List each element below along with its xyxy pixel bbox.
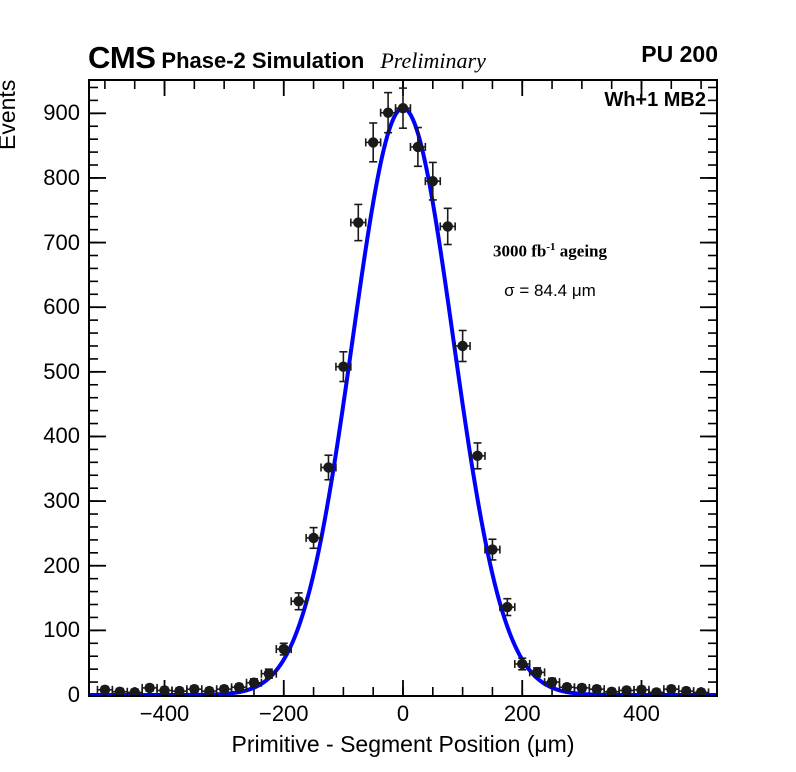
data-point [530, 667, 545, 677]
y-tick-label: 700 [20, 230, 80, 256]
data-point [366, 123, 381, 162]
cms-logo-text: CMS [88, 40, 155, 75]
y-tick-label: 300 [20, 488, 80, 514]
y-tick-label: 100 [20, 617, 80, 643]
chart-canvas: CMSPhase-2 SimulationPreliminary PU 200 … [0, 0, 796, 772]
resolution-annotation: σ = 84.4 μm [420, 281, 680, 301]
ageing-lumi-value: 3000 fb [493, 242, 546, 261]
y-tick-label: 800 [20, 165, 80, 191]
plot-area [90, 81, 716, 695]
data-point [142, 683, 157, 693]
header-left-group: CMSPhase-2 SimulationPreliminary [88, 40, 486, 76]
x-tick-label: −200 [259, 701, 309, 727]
data-point [187, 684, 202, 694]
axis-ticks [90, 81, 716, 695]
chamber-label: Wh+1 MB2 [604, 89, 706, 112]
x-tick-label: 0 [397, 701, 409, 727]
gaussian-fit-curve [90, 108, 716, 695]
x-tick-label: 200 [504, 701, 541, 727]
y-tick-label: 0 [20, 682, 80, 708]
y-tick-label: 200 [20, 553, 80, 579]
y-axis-tick-labels: 0100200300400500600700800900 [18, 79, 80, 697]
y-tick-label: 600 [20, 294, 80, 320]
data-point [396, 88, 411, 128]
ageing-suffix: ageing [556, 242, 607, 261]
y-tick-label: 900 [20, 100, 80, 126]
chart-header: CMSPhase-2 SimulationPreliminary PU 200 [88, 40, 718, 74]
data-point [351, 204, 366, 240]
data-series-points [97, 88, 708, 695]
ageing-annotation: 3000 fb-1 ageing [420, 241, 680, 262]
x-tick-label: −400 [140, 701, 190, 727]
simulation-label: Phase-2 Simulation [161, 48, 364, 73]
data-point [381, 93, 396, 133]
pileup-label: PU 200 [641, 41, 718, 68]
data-point [664, 684, 679, 694]
y-tick-label: 400 [20, 423, 80, 449]
plot-graphics [90, 81, 716, 695]
data-point [440, 208, 455, 244]
x-tick-label: 400 [623, 701, 660, 727]
x-axis-title: Primitive - Segment Position (μm) [88, 731, 718, 758]
plot-frame: Wh+1 MB2 3000 fb-1 ageing σ = 84.4 μm [88, 79, 718, 697]
ageing-lumi-exponent: -1 [546, 241, 555, 253]
preliminary-label: Preliminary [380, 48, 486, 73]
y-tick-label: 500 [20, 359, 80, 385]
